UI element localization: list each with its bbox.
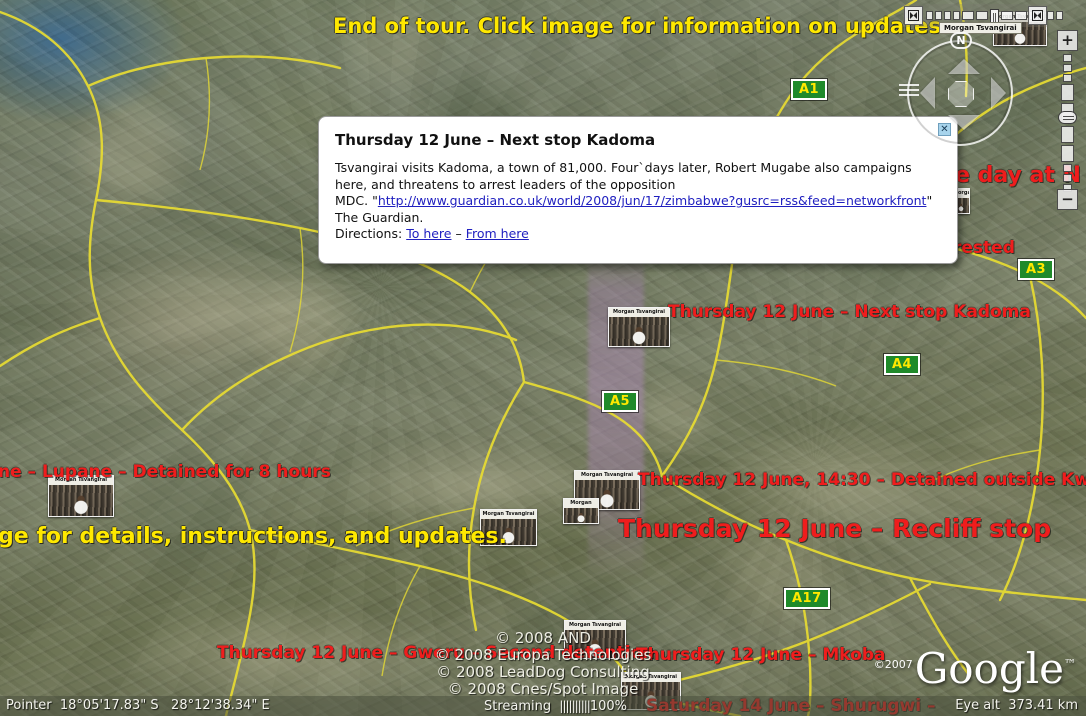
zoom-tick[interactable]: [1063, 54, 1072, 62]
eye-alt-label: Eye alt: [955, 698, 1000, 713]
streaming-progress-bars: ||||||||||: [559, 696, 589, 716]
time-tick[interactable]: [953, 11, 960, 20]
zoom-tick[interactable]: [1061, 84, 1074, 101]
google-logo: ©2007Google™: [874, 643, 1076, 690]
placemark-balloon[interactable]: ✕ Thursday 12 June – Next stop Kadoma Ts…: [318, 116, 958, 264]
road-shield-a17[interactable]: A17: [784, 588, 830, 609]
pan-right-icon[interactable]: [991, 77, 1006, 109]
zoom-tick[interactable]: [1061, 145, 1074, 162]
time-slider-start-icon[interactable]: [904, 6, 923, 25]
balloon-body-text: Tsvangirai visits Kadoma, a town of 81,0…: [335, 160, 912, 192]
time-tick[interactable]: [926, 11, 933, 20]
time-tick[interactable]: [962, 11, 974, 20]
map-label-gweru[interactable]: Thursday 12 June – Gweru – Second detent…: [217, 643, 654, 663]
zoom-in-button[interactable]: +: [1057, 30, 1078, 51]
time-tick[interactable]: [1015, 11, 1027, 20]
streaming-status: Streaming ||||||||||100%: [484, 696, 627, 716]
pan-down-icon[interactable]: [948, 115, 980, 130]
photo-caption: Morgan Tsvangirai: [609, 308, 669, 317]
google-earth-window: A1 A3 A4 A5 A17 Morgan Tsvangirai Morgan…: [0, 0, 1086, 716]
north-indicator-icon[interactable]: N: [950, 32, 972, 49]
source-link[interactable]: http://www.guardian.co.uk/world/2008/jun…: [378, 193, 927, 208]
google-logo-word: Google: [915, 644, 1064, 693]
zoom-out-button[interactable]: −: [1057, 189, 1078, 210]
zoom-tick[interactable]: [1063, 74, 1072, 82]
time-tick[interactable]: [944, 11, 951, 20]
map-label-rested[interactable]: rested: [953, 238, 1015, 258]
directions-label: Directions:: [335, 226, 402, 241]
time-tick[interactable]: [976, 11, 988, 20]
zoom-slider-handle[interactable]: [1058, 111, 1077, 124]
photo-placemark[interactable]: Morgan Tsvangirai: [608, 307, 670, 347]
photo-caption: Morgan Tsvangirai: [481, 510, 536, 519]
directions-from-here-link[interactable]: From here: [466, 226, 529, 241]
balloon-body: Tsvangirai visits Kadoma, a town of 81,0…: [335, 160, 941, 243]
zoom-tick[interactable]: [1061, 126, 1074, 143]
directions-separator: –: [455, 226, 461, 241]
pointer-label: Pointer: [6, 698, 52, 713]
zoom-tick[interactable]: [1063, 164, 1072, 172]
time-slider-end-icon[interactable]: [1028, 6, 1047, 25]
expand-icon: [1032, 10, 1043, 21]
zoom-tick[interactable]: [1063, 174, 1072, 182]
map-label-tour-end[interactable]: End of tour. Click image for information…: [333, 14, 949, 38]
status-bar: Pointer 18°05'17.83" S 28°12'38.34" E St…: [0, 696, 1086, 716]
photo-caption: Morgan Tsvangirai: [622, 673, 680, 682]
map-label-lupane[interactable]: ne – Lupane – Detained for 8 hours: [0, 462, 331, 482]
pointer-latitude: 18°05'17.83" S: [60, 698, 159, 713]
road-shield-a5[interactable]: A5: [602, 391, 638, 412]
road-shield-a4[interactable]: A4: [884, 354, 920, 375]
pointer-coordinates: Pointer 18°05'17.83" S 28°12'38.34" E: [6, 696, 270, 716]
map-label-kadoma[interactable]: Thursday 12 June – Next stop Kadoma: [668, 302, 1031, 322]
balloon-quote-prefix: MDC. ": [335, 193, 378, 208]
google-logo-year: ©2007: [874, 658, 913, 671]
map-label-recliff[interactable]: Thursday 12 June – Recliff stop: [618, 514, 1051, 543]
photo-caption: Morgan: [564, 499, 598, 508]
road-shield-a1[interactable]: A1: [791, 79, 827, 100]
photo-caption: Morgan Tsvangirai: [565, 621, 625, 630]
pan-joystick-icon[interactable]: [948, 81, 974, 107]
tilt-ticks[interactable]: [899, 84, 921, 98]
photo-image: [49, 485, 113, 516]
streaming-label: Streaming: [484, 699, 551, 714]
terrain-highlight: [60, 250, 390, 370]
road-shield-a3[interactable]: A3: [1018, 259, 1054, 280]
time-slider-track[interactable]: [926, 9, 1025, 22]
photo-caption: Morgan Tsvangirai: [575, 471, 639, 480]
navigation-compass[interactable]: N: [907, 32, 1019, 147]
map-label-kwekwe[interactable]: Thursday 12 June, 14:30 – Detained outsi…: [638, 470, 1086, 490]
photo-image: [564, 508, 598, 523]
time-tick[interactable]: [1001, 11, 1013, 20]
map-label-details-updates[interactable]: ge for details, instructions, and update…: [0, 524, 507, 549]
directions-to-here-link[interactable]: To here: [406, 226, 451, 241]
balloon-title: Thursday 12 June – Next stop Kadoma: [335, 131, 957, 149]
time-tick[interactable]: [1047, 11, 1054, 20]
time-tick[interactable]: [935, 11, 942, 20]
zoom-tick[interactable]: [1063, 64, 1072, 72]
eye-alt-value: 373.41 km: [1008, 698, 1078, 713]
map-label-mkoba[interactable]: Thursday 12 June – Mkoba: [636, 645, 885, 665]
eye-altitude: Eye alt 373.41 km: [955, 696, 1078, 716]
zoom-slider[interactable]: + −: [1056, 30, 1080, 210]
time-tick[interactable]: [1056, 11, 1063, 20]
pointer-longitude: 28°12'38.34" E: [171, 698, 270, 713]
photo-placemark[interactable]: Morgan: [563, 498, 599, 524]
pan-left-icon[interactable]: [920, 77, 935, 109]
pan-up-icon[interactable]: [948, 59, 980, 74]
trademark-icon: ™: [1064, 657, 1076, 671]
photo-image: [609, 317, 669, 346]
expand-icon: [908, 10, 919, 21]
streaming-percent: 100%: [590, 699, 627, 714]
